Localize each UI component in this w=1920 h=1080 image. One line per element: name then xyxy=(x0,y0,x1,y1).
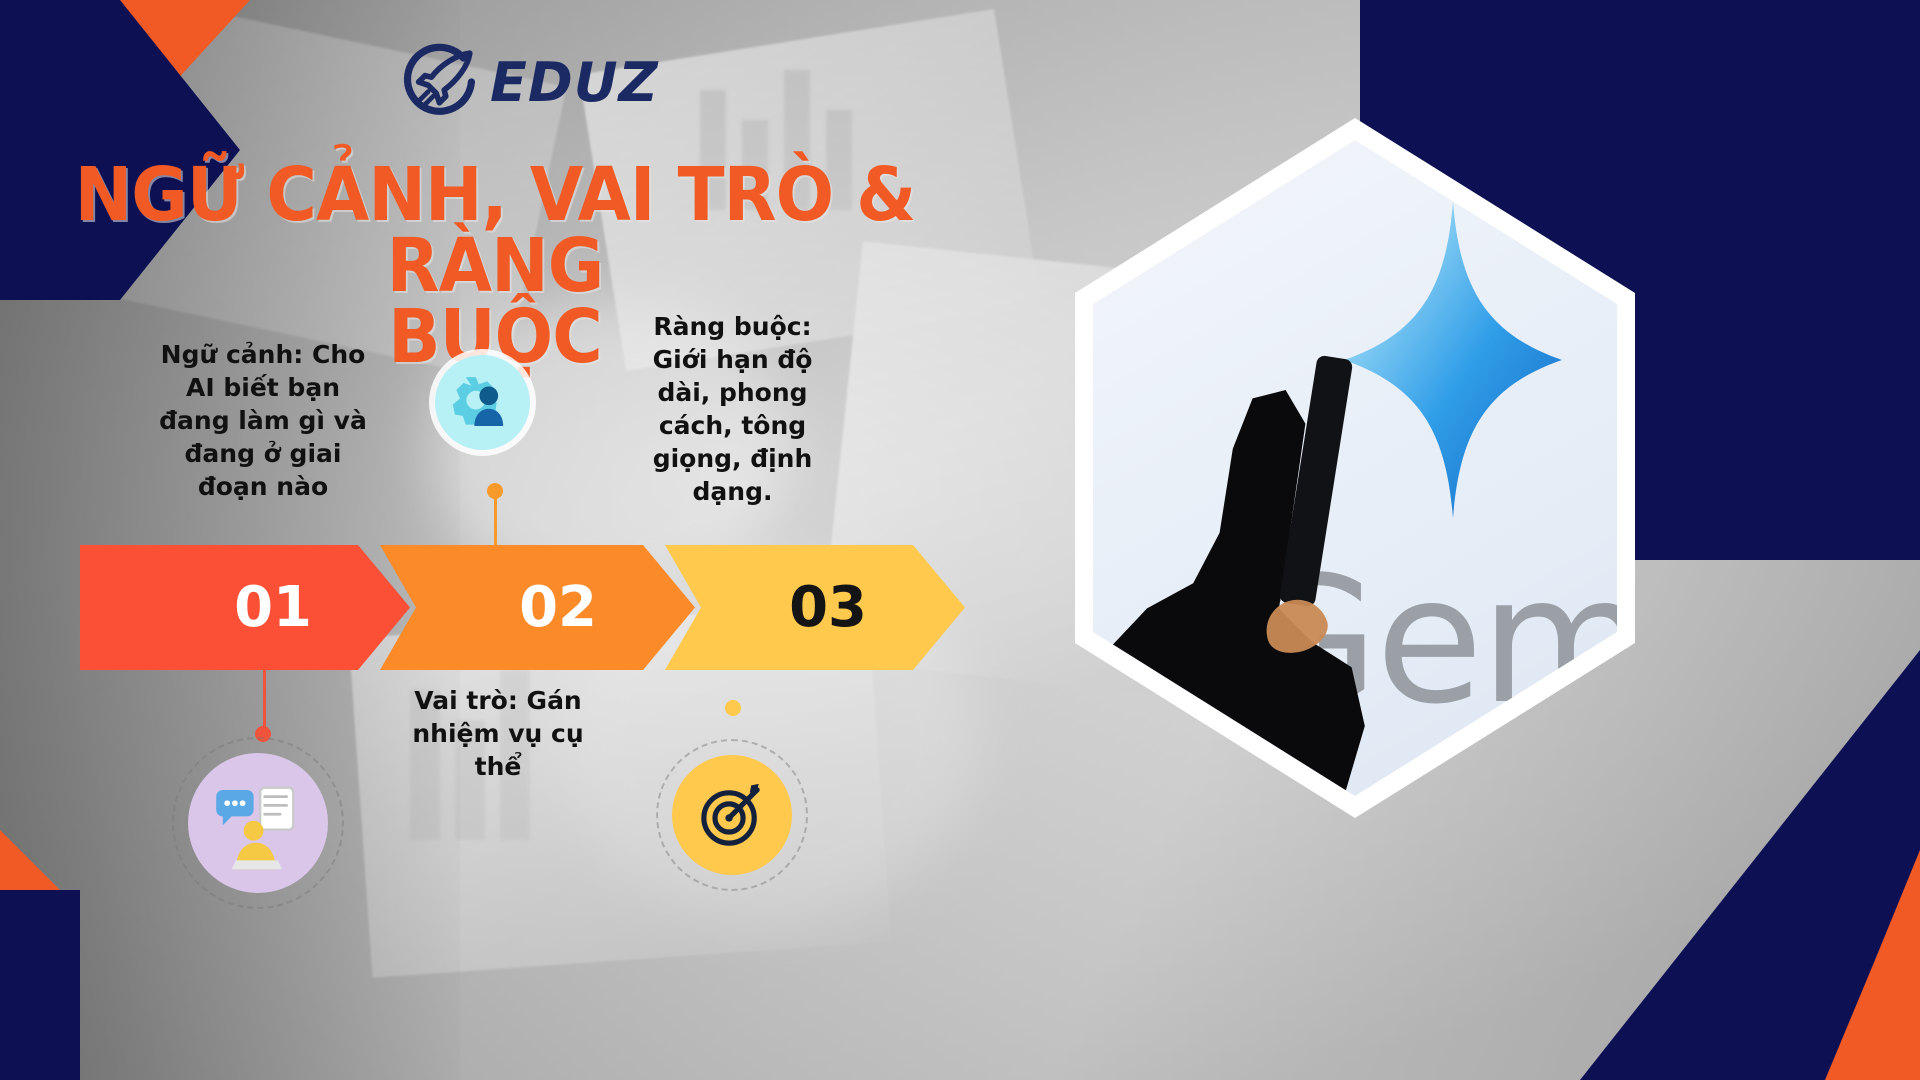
step-3-arrow[interactable]: 03 xyxy=(665,545,965,670)
connector-line-step-2 xyxy=(494,490,497,550)
step-2-number: 02 xyxy=(519,575,695,640)
corner-accent-navy-bottomleft xyxy=(0,890,80,1080)
page-title-line1: NGỮ CẢNH, VAI TRÒ & RÀNG xyxy=(75,152,916,309)
step-1-arrow[interactable]: 01 xyxy=(80,545,410,670)
person-chat-laptop-icon xyxy=(203,768,313,878)
step-1-number: 01 xyxy=(234,575,410,640)
step-2-text: Vai trò: Gán nhiệm vụ cụ thể xyxy=(398,684,598,783)
step-3-text: Ràng buộc: Giới hạn độ dài, phong cách, … xyxy=(640,310,825,508)
connector-line-step-1 xyxy=(263,666,266,732)
brand-logo-text: EDUZ xyxy=(490,51,659,114)
rocket-in-circle-icon xyxy=(398,42,484,122)
step-3-number: 03 xyxy=(789,575,965,640)
process-arrow-group: 01 02 03 xyxy=(80,545,870,670)
gear-person-icon xyxy=(447,367,519,439)
step-1-text: Ngữ cảnh: Cho AI biết bạn đang làm gì và… xyxy=(148,338,378,503)
brand-logo[interactable]: EDUZ xyxy=(398,42,659,122)
person-chat-laptop-icon-badge xyxy=(188,753,328,893)
connector-dot-step-2 xyxy=(487,483,503,499)
connector-dot-step-3 xyxy=(725,700,741,716)
gear-person-icon-badge xyxy=(435,355,530,450)
step-2-arrow[interactable]: 02 xyxy=(380,545,695,670)
target-dart-icon-badge xyxy=(672,755,792,875)
target-dart-icon xyxy=(695,778,769,852)
